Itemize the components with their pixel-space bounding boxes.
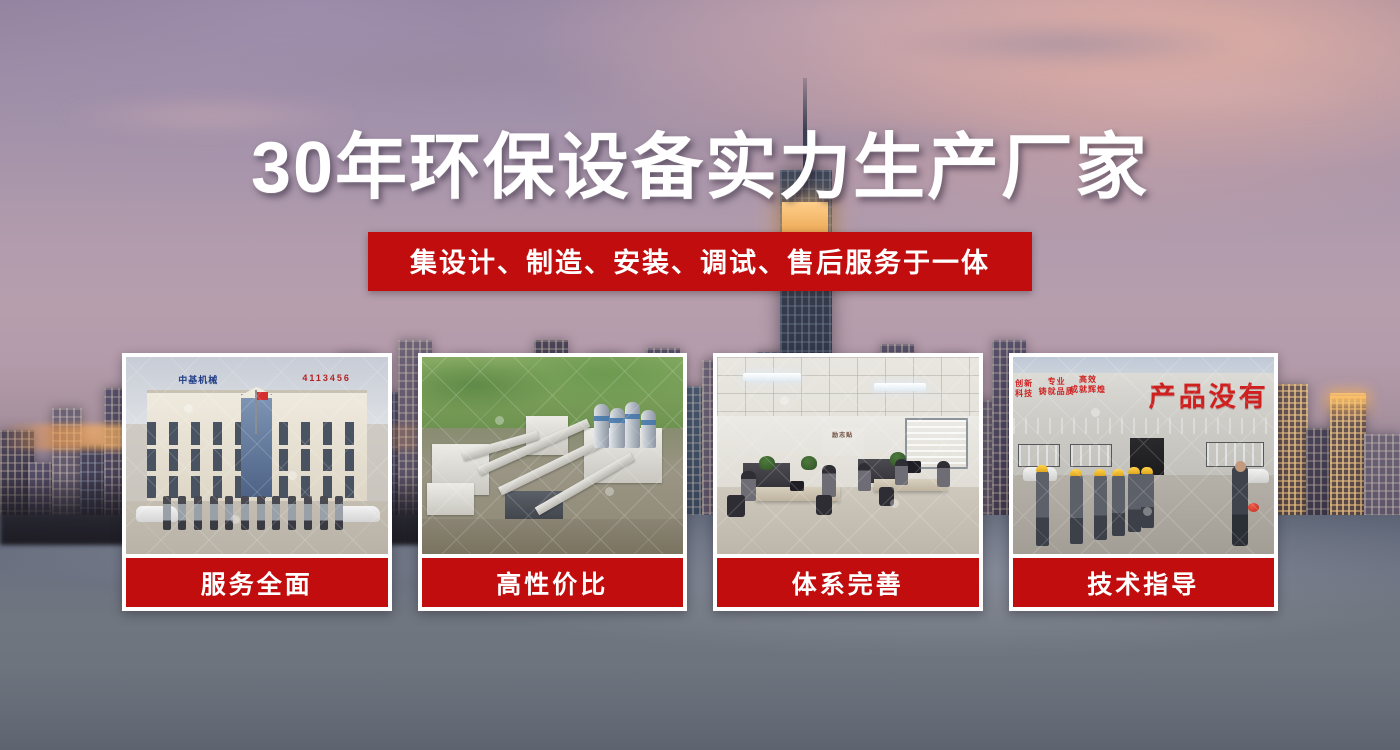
plant-photo — [422, 357, 684, 554]
desk-plant — [759, 456, 775, 470]
storage-silo — [594, 404, 609, 447]
building-photo: 中基机械 4113456 — [126, 357, 388, 554]
watermark-dot — [231, 515, 240, 524]
watermark-dot — [184, 404, 193, 413]
staff-member — [210, 496, 218, 530]
watermark-dot — [495, 416, 504, 425]
plant-structure — [427, 483, 474, 515]
staff-member — [163, 496, 171, 530]
feature-card[interactable]: 产品没有 创新科技 专业铸就品质 高效成就辉煌 — [1009, 353, 1279, 611]
hard-hat — [1036, 465, 1048, 472]
factory-window — [1070, 444, 1112, 468]
card-photo-workers: 产品没有 创新科技 专业铸就品质 高效成就辉煌 — [1013, 357, 1275, 554]
factory-worker — [1070, 475, 1083, 544]
storage-silo — [641, 410, 656, 447]
factory-worker — [1112, 475, 1125, 536]
ceiling-light — [874, 383, 926, 391]
promo-banner: 30年环保设备实力生产厂家 集设计、制造、安装、调试、售后服务于一体 — [0, 0, 1400, 750]
parked-car — [136, 506, 178, 522]
office-chair — [816, 495, 832, 515]
staff-member — [335, 496, 343, 530]
card-photo-office: 励志贴 — [717, 357, 979, 554]
staff-member — [272, 496, 280, 530]
watermark-dot — [605, 487, 614, 496]
storage-silo — [610, 408, 625, 447]
office-worker — [822, 465, 836, 497]
subtitle-text: 集设计、制造、安装、调试、售后服务于一体 — [368, 232, 1032, 291]
watermark-dot — [890, 499, 899, 508]
office-photo: 励志贴 — [717, 357, 979, 554]
factory-worker — [1036, 471, 1049, 546]
feature-card[interactable]: 高性价比 — [418, 353, 688, 611]
staff-member — [178, 496, 186, 530]
watermark-dot — [1143, 507, 1152, 516]
staff-member — [257, 496, 265, 530]
cloud-shape — [1020, 70, 1380, 116]
card-caption: 高性价比 — [422, 558, 684, 607]
wall-slogan-small: 高效成就辉煌 — [1070, 375, 1106, 395]
staff-member — [194, 496, 202, 530]
wall-slogan-large: 产品没有 — [1149, 375, 1269, 414]
staff-member — [241, 496, 249, 530]
computer-monitor — [790, 481, 804, 491]
wall-vent-band — [1013, 418, 1275, 434]
office-worker — [858, 463, 871, 491]
staff-member — [304, 496, 312, 530]
hard-hat — [1070, 469, 1082, 476]
cloud-shape — [880, 18, 1260, 70]
feature-card-list: 中基机械 4113456 — [122, 353, 1278, 611]
page-title: 30年环保设备实力生产厂家 — [0, 132, 1400, 204]
parked-car — [338, 506, 380, 522]
cloud-shape — [230, 40, 650, 104]
factory-worker — [1141, 473, 1154, 528]
card-caption: 服务全面 — [126, 558, 388, 607]
subtitle-bar: 集设计、制造、安装、调试、售后服务于一体 — [0, 232, 1400, 291]
feature-card[interactable]: 励志贴 — [713, 353, 983, 611]
hard-hat — [1094, 469, 1106, 476]
office-worker — [895, 459, 908, 485]
storage-silo — [625, 402, 640, 447]
company-sign-text: 中基机械 — [178, 373, 218, 386]
china-flag — [257, 392, 268, 400]
factory-worker — [1094, 475, 1107, 540]
office-chair — [727, 495, 745, 517]
ceiling-light — [743, 373, 801, 381]
card-caption: 体系完善 — [717, 558, 979, 607]
wall-decal: 励志贴 — [822, 428, 864, 456]
rooftop-light — [1330, 393, 1366, 400]
staff-member — [320, 496, 328, 530]
factory-worker — [1128, 473, 1141, 532]
wall-slogan-small: 创新科技 — [1015, 379, 1033, 399]
office-worker — [937, 461, 950, 487]
factory-photo: 产品没有 创新科技 专业铸就品质 高效成就辉煌 — [1013, 357, 1275, 554]
red-helmet — [1248, 503, 1259, 512]
card-photo-plant — [422, 357, 684, 554]
supervisor — [1232, 467, 1248, 546]
staff-member — [225, 496, 233, 530]
card-caption: 技术指导 — [1013, 558, 1275, 607]
desk-plant — [801, 456, 817, 470]
staff-member — [288, 496, 296, 530]
hard-hat — [1141, 467, 1153, 474]
hard-hat — [1128, 467, 1140, 474]
plant-yard — [422, 519, 684, 554]
feature-card[interactable]: 中基机械 4113456 — [122, 353, 392, 611]
company-phone-text: 4113456 — [302, 373, 351, 383]
office-ceiling — [717, 357, 979, 416]
hard-hat — [1112, 469, 1124, 476]
card-photo-headquarters: 中基机械 4113456 — [126, 357, 388, 554]
factory-window — [1018, 444, 1060, 468]
